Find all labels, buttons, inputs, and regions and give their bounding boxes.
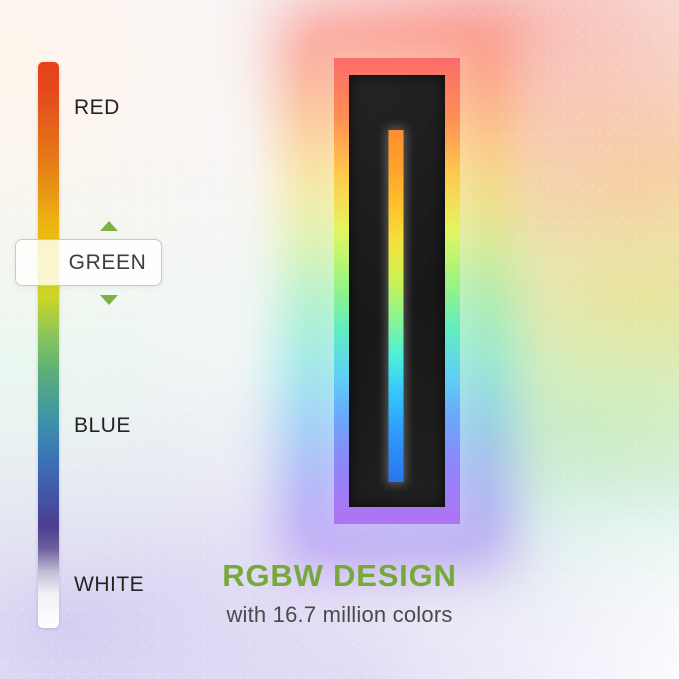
slider-label-red: RED — [74, 96, 120, 120]
light-black-body — [349, 75, 445, 507]
slider-label-blue: BLUE — [74, 414, 131, 438]
color-selector-value: GREEN — [31, 251, 147, 275]
caption-title: RGBW DESIGN — [0, 558, 679, 594]
color-selector-chip[interactable]: GREEN — [15, 239, 162, 286]
triangle-up-icon[interactable] — [100, 221, 118, 231]
rgbw-color-slider-track[interactable] — [38, 62, 59, 628]
rgbw-wall-light — [334, 58, 460, 524]
light-inner-strip — [389, 130, 404, 482]
product-feature-image: RED BLUE WHITE GREEN RGBW DESIGN with 16… — [0, 0, 679, 679]
light-glow-frame — [334, 58, 460, 524]
triangle-down-icon[interactable] — [100, 295, 118, 305]
caption-subtitle: with 16.7 million colors — [0, 602, 679, 628]
